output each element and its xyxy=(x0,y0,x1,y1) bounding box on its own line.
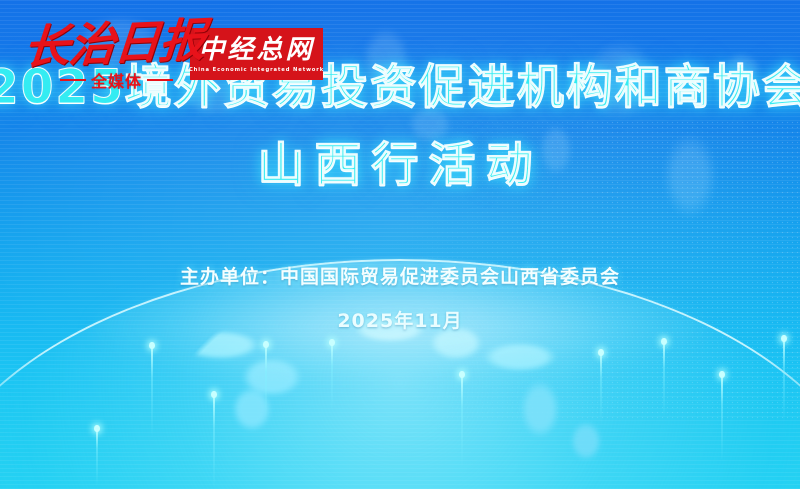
light-beam-8 xyxy=(663,341,665,417)
changzhi-daily-wordmark: 长治日报 xyxy=(22,15,187,74)
rule-left-icon xyxy=(60,79,86,82)
event-banner-stage: 2025境外贸易投资促进机构和商协会 山西行活动 主办单位：中国国际贸易促进委员… xyxy=(0,0,800,489)
light-beam-10 xyxy=(783,338,785,422)
light-beam-5 xyxy=(331,342,333,410)
event-date: 2025年11月 xyxy=(0,306,800,333)
light-beam-1 xyxy=(96,428,98,486)
watermark-logo-bar: 长治日报 全媒体 中经总网 China Economic Integrated … xyxy=(24,18,323,96)
organizer-name: 主办单位：中国国际贸易促进委员会山西省委员会 xyxy=(0,262,800,289)
changzhi-daily-subtitle-row: 全媒体 xyxy=(60,68,173,92)
event-title-line-2: 山西行活动 xyxy=(0,138,800,194)
cein-logo: 中经总网 China Economic Integrated Network xyxy=(190,28,323,80)
light-beam-3 xyxy=(213,394,215,489)
organizer-block: 主办单位：中国国际贸易促进委员会山西省委员会 2025年11月 xyxy=(0,262,800,333)
changzhi-daily-subtitle: 全媒体 xyxy=(91,68,142,92)
light-beam-6 xyxy=(461,374,463,468)
light-beam-2 xyxy=(151,345,153,437)
light-beam-9 xyxy=(721,374,723,462)
cein-english-name: China Economic Integrated Network xyxy=(189,67,324,73)
changzhi-daily-logo: 长治日报 全媒体 xyxy=(24,18,184,96)
light-beam-7 xyxy=(600,352,602,424)
light-beam-4 xyxy=(265,344,267,422)
rule-right-icon xyxy=(147,79,173,82)
cein-wordmark: 中经总网 xyxy=(198,35,314,65)
